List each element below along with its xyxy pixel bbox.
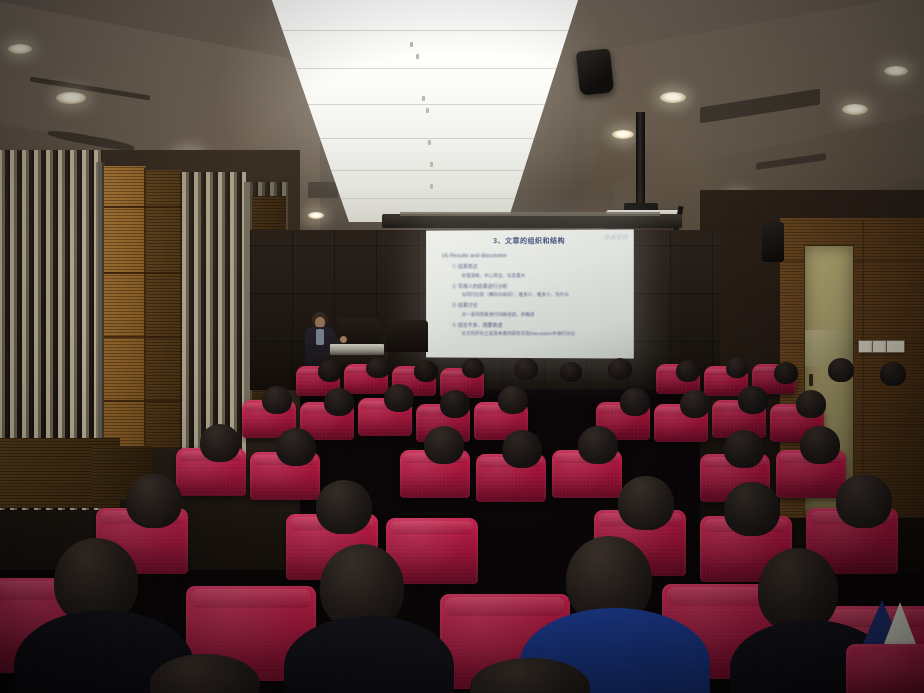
audience-seating bbox=[0, 358, 924, 693]
slide-line: 条理清晰、中心突出、信息量大 bbox=[461, 272, 625, 278]
projector-mount-pole bbox=[636, 112, 645, 208]
audience-head bbox=[796, 390, 826, 418]
audience-head bbox=[680, 390, 710, 418]
presenter-shirt bbox=[316, 329, 324, 345]
downlight-icon bbox=[56, 92, 86, 104]
slide-line: (4) Results and discussion bbox=[442, 253, 626, 260]
audience-head bbox=[126, 474, 182, 528]
slide-line: ③ 结果讨论 bbox=[452, 302, 626, 309]
slide-content: 3、文章的组织和结构 学术写作 (4) Results and discussi… bbox=[426, 229, 634, 358]
slide-line: 与同行比较（横向与纵向）：谁多少、谁多少、为什么 bbox=[461, 292, 625, 298]
audience-head bbox=[498, 386, 528, 414]
downlight-icon bbox=[842, 104, 868, 115]
audience-head bbox=[724, 482, 780, 536]
audience-head bbox=[774, 362, 798, 384]
audience-head bbox=[276, 428, 316, 466]
slide-line: ② 写得人的结果进行分析 bbox=[452, 282, 626, 289]
downlight-icon bbox=[8, 44, 32, 54]
audience-head bbox=[318, 360, 342, 382]
audience-head bbox=[828, 358, 854, 382]
audience-head bbox=[620, 388, 650, 416]
audience-head bbox=[560, 362, 582, 382]
audience-head bbox=[316, 480, 372, 534]
downlight-icon bbox=[660, 92, 686, 103]
audience-head bbox=[758, 548, 838, 632]
slide-line: 论文的开头之处及本类的研究可在Discussion中进行讨论 bbox=[461, 331, 625, 338]
projection-screen: 3、文章的组织和结构 学术写作 (4) Results and discussi… bbox=[426, 229, 634, 358]
ceiling-speaker-icon bbox=[576, 48, 614, 95]
chevron-graphic-white bbox=[884, 602, 916, 644]
wall-speaker-icon bbox=[762, 222, 784, 262]
audience-head bbox=[676, 360, 700, 382]
slide-title: 3、文章的组织和结构 bbox=[434, 236, 626, 247]
downlight-icon bbox=[884, 66, 908, 76]
auditorium-photo: 3、文章的组织和结构 学术写作 (4) Results and discussi… bbox=[0, 0, 924, 693]
audience-head bbox=[366, 358, 390, 378]
audience-head bbox=[724, 430, 764, 468]
audience-head bbox=[324, 388, 354, 416]
stage-chair bbox=[386, 320, 428, 352]
audience-head bbox=[462, 358, 484, 378]
downlight-icon bbox=[612, 130, 634, 139]
audience-head bbox=[578, 426, 618, 464]
slide-line: 对一系列现象进行归纳总结，并概述 bbox=[461, 311, 625, 317]
audience-head bbox=[440, 390, 470, 418]
audience-head bbox=[618, 476, 674, 530]
downlight-icon bbox=[308, 212, 324, 219]
light-switch-plate[interactable] bbox=[872, 340, 887, 353]
hvac-vent bbox=[308, 182, 338, 198]
screen-valance bbox=[382, 214, 682, 228]
screen-valance-lip bbox=[400, 212, 660, 216]
audience-head bbox=[880, 362, 906, 386]
audience-head bbox=[738, 386, 768, 414]
audience-head bbox=[200, 424, 240, 462]
light-switch-plate[interactable] bbox=[858, 340, 873, 353]
audience-head bbox=[608, 358, 632, 380]
audience-head bbox=[414, 360, 438, 382]
audience-head bbox=[836, 474, 892, 528]
podium-laptop bbox=[330, 344, 384, 355]
audience-head bbox=[424, 426, 464, 464]
presenter-hand bbox=[340, 336, 347, 343]
light-switch-plate[interactable] bbox=[886, 340, 905, 353]
audience-head bbox=[514, 358, 538, 380]
audience-head bbox=[726, 358, 748, 378]
audience-head bbox=[502, 430, 542, 468]
audience-head bbox=[800, 426, 840, 464]
slide-watermark: 学术写作 bbox=[603, 232, 627, 241]
audience-head bbox=[384, 384, 414, 412]
slide-line: ① 结果表达 bbox=[452, 263, 626, 270]
audience-head bbox=[262, 386, 292, 414]
seat[interactable] bbox=[846, 644, 924, 693]
slide-line: ④ 结论不多、简要表述 bbox=[452, 321, 626, 328]
